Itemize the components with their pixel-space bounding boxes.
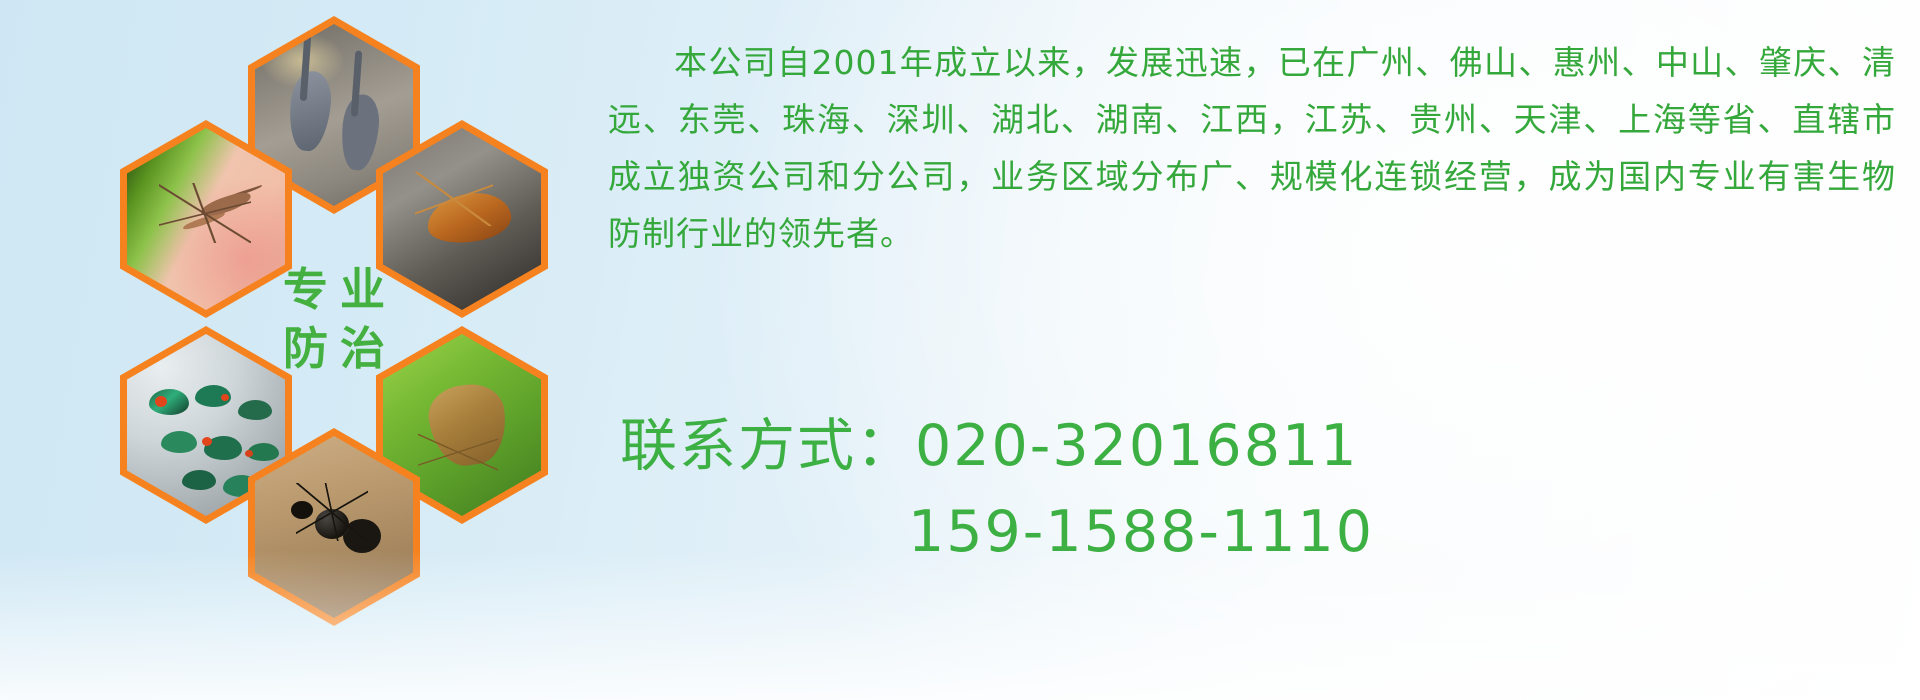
honeycomb-gallery: 专业 防治 — [80, 8, 600, 568]
contact-mobile-line: 159-1588-1110 — [620, 492, 1890, 572]
contact-landline-line: 联系方式：020-32016811 — [620, 400, 1890, 492]
badge-line-2: 防治 — [271, 326, 397, 371]
hex-photo-frame — [255, 436, 413, 618]
contact-mobile-value[interactable]: 159-1588-1110 — [908, 499, 1374, 565]
promo-banner: 专业 防治 本公司自2001年成立以来，发展迅速，已在广州、佛山、惠州、中山、肇… — [0, 0, 1920, 700]
badge-line-1: 专业 — [271, 267, 397, 312]
ant-photo-icon — [255, 436, 413, 618]
contact-landline-value[interactable]: 020-32016811 — [915, 413, 1358, 479]
contact-block: 联系方式：020-32016811 159-1588-1110 — [620, 400, 1890, 572]
company-intro: 本公司自2001年成立以来，发展迅速，已在广州、佛山、惠州、中山、肇庆、清远、东… — [608, 34, 1896, 262]
contact-label: 联系方式： — [620, 413, 915, 479]
company-intro-paragraph: 本公司自2001年成立以来，发展迅速，已在广州、佛山、惠州、中山、肇庆、清远、东… — [608, 34, 1896, 262]
